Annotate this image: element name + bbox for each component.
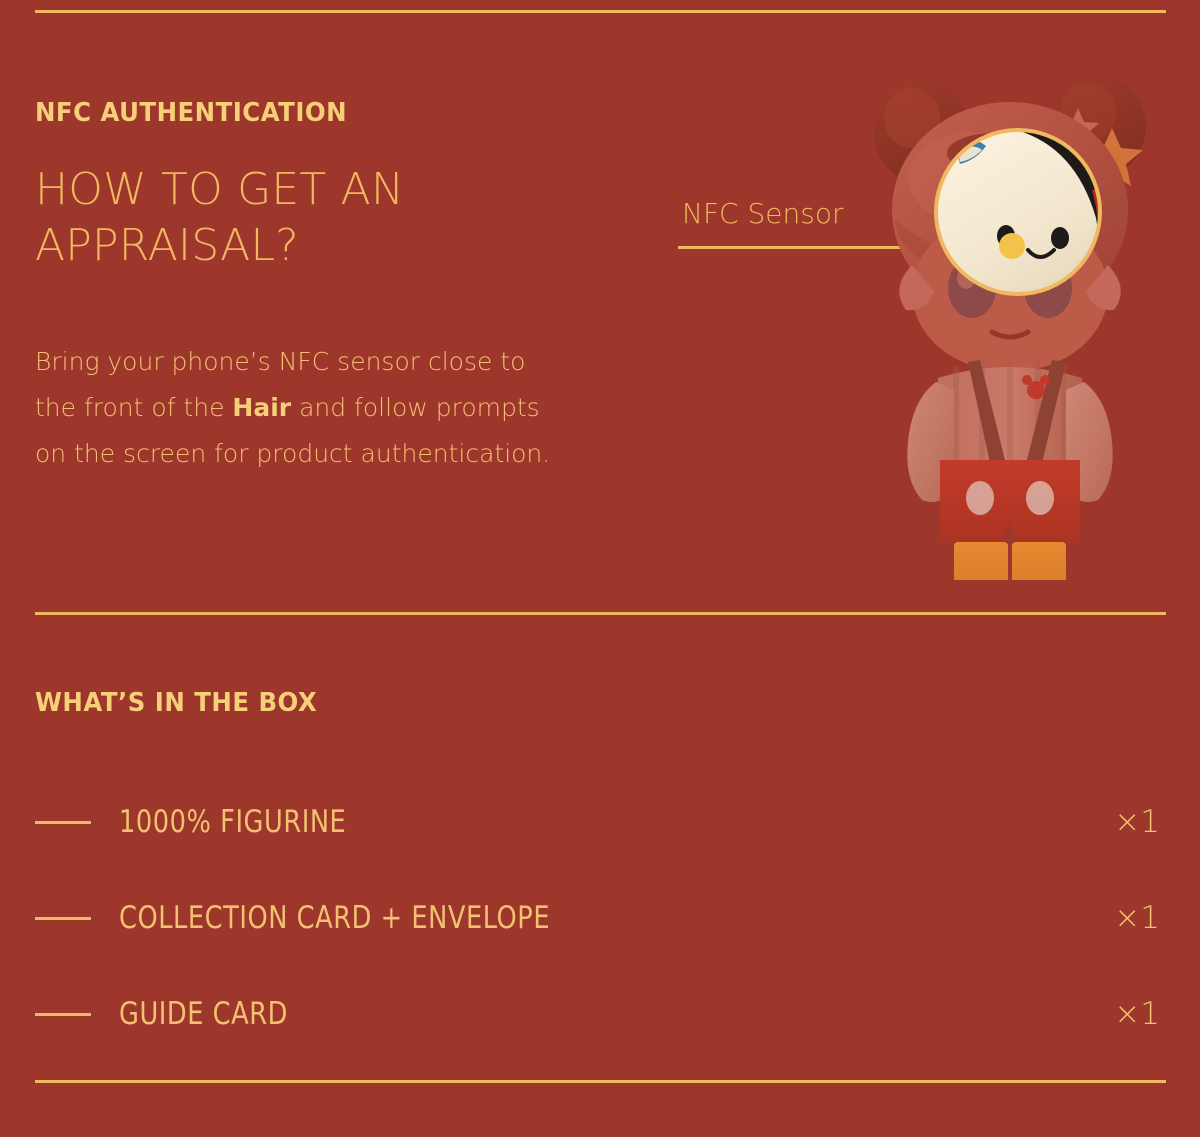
list-item-label: COLLECTION CARD + ENVELOPE bbox=[119, 900, 1035, 936]
list-item: GUIDE CARD ×1 bbox=[35, 966, 1166, 1062]
list-item-quantity: ×1 bbox=[1114, 996, 1166, 1032]
list-item: COLLECTION CARD + ENVELOPE ×1 bbox=[35, 870, 1166, 966]
divider-middle bbox=[35, 612, 1166, 615]
product-detail-panel: NFC AUTHENTICATION HOW TO GET AN APPRAIS… bbox=[0, 0, 1200, 1137]
list-item-quantity: ×1 bbox=[1114, 804, 1166, 840]
box-contents-list: 1000% FIGURINE ×1 COLLECTION CARD + ENVE… bbox=[35, 774, 1166, 1062]
section-eyebrow-nfc: NFC AUTHENTICATION bbox=[35, 100, 599, 126]
nfc-authentication-section: NFC AUTHENTICATION HOW TO GET AN APPRAIS… bbox=[35, 100, 635, 477]
figurine-image: Mickey bbox=[860, 60, 1160, 580]
divider-bottom bbox=[35, 1080, 1166, 1083]
list-item-quantity: ×1 bbox=[1114, 900, 1166, 936]
bullet-dash-icon bbox=[35, 1013, 91, 1016]
list-item-label: 1000% FIGURINE bbox=[119, 804, 1035, 840]
page-title: HOW TO GET AN APPRAISAL? bbox=[35, 162, 455, 275]
divider-top bbox=[35, 10, 1166, 13]
whats-in-the-box-section: WHAT’S IN THE BOX 1000% FIGURINE ×1 COLL… bbox=[35, 690, 1166, 1062]
list-item: 1000% FIGURINE ×1 bbox=[35, 774, 1166, 870]
bullet-dash-icon bbox=[35, 917, 91, 920]
nfc-instructions: Bring your phone’s NFC sensor close to t… bbox=[35, 339, 565, 477]
figurine-illustration-area: NFC Sensor bbox=[660, 60, 1180, 580]
figurine-body bbox=[907, 357, 1112, 580]
list-item-label: GUIDE CARD bbox=[119, 996, 1035, 1032]
section-title-box: WHAT’S IN THE BOX bbox=[35, 690, 1098, 716]
nfc-instructions-emphasis: Hair bbox=[232, 393, 291, 422]
bullet-dash-icon bbox=[35, 821, 91, 824]
